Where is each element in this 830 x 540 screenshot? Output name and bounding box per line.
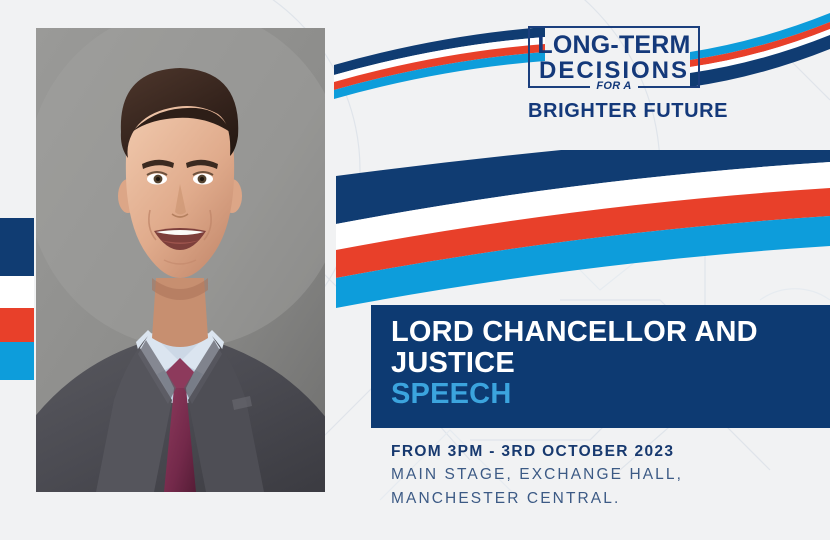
promo-card: LONG-TERM DECISIONS FOR A BRIGHTER FUTUR… <box>0 0 830 540</box>
ribbon-accent-left <box>330 25 545 125</box>
ribbon-accent-right <box>690 5 830 100</box>
logo-box: LONG-TERM DECISIONS FOR A <box>528 26 700 88</box>
title-line-two: JUSTICE <box>391 348 830 379</box>
event-date: FROM 3PM - 3RD OCTOBER 2023 <box>391 440 821 463</box>
ribbon-band-light-blue <box>0 342 34 380</box>
ribbon-band-white <box>0 276 34 308</box>
title-text-group: LORD CHANCELLOR AND JUSTICE SPEECH <box>371 305 830 410</box>
event-details: FROM 3PM - 3RD OCTOBER 2023 MAIN STAGE, … <box>391 440 821 510</box>
portrait-photo <box>36 28 325 492</box>
title-line-three: SPEECH <box>391 379 830 410</box>
title-line-one: LORD CHANCELLOR AND <box>391 317 830 348</box>
campaign-logo: LONG-TERM DECISIONS FOR A BRIGHTER FUTUR… <box>528 26 700 123</box>
left-edge-ribbon <box>0 218 34 380</box>
event-venue-line-one: MAIN STAGE, EXCHANGE HALL, <box>391 463 821 487</box>
ribbon-main <box>330 150 830 315</box>
logo-connector-row: FOR A <box>530 79 698 95</box>
logo-line-one: LONG-TERM <box>536 33 692 58</box>
ribbon-band-red <box>0 308 34 342</box>
event-venue-line-two: MANCHESTER CENTRAL. <box>391 487 821 511</box>
ribbon-band-navy <box>0 218 34 276</box>
logo-line-three: BRIGHTER FUTURE <box>528 100 700 123</box>
logo-connector: FOR A <box>590 81 637 92</box>
title-panel: LORD CHANCELLOR AND JUSTICE SPEECH <box>371 305 830 428</box>
